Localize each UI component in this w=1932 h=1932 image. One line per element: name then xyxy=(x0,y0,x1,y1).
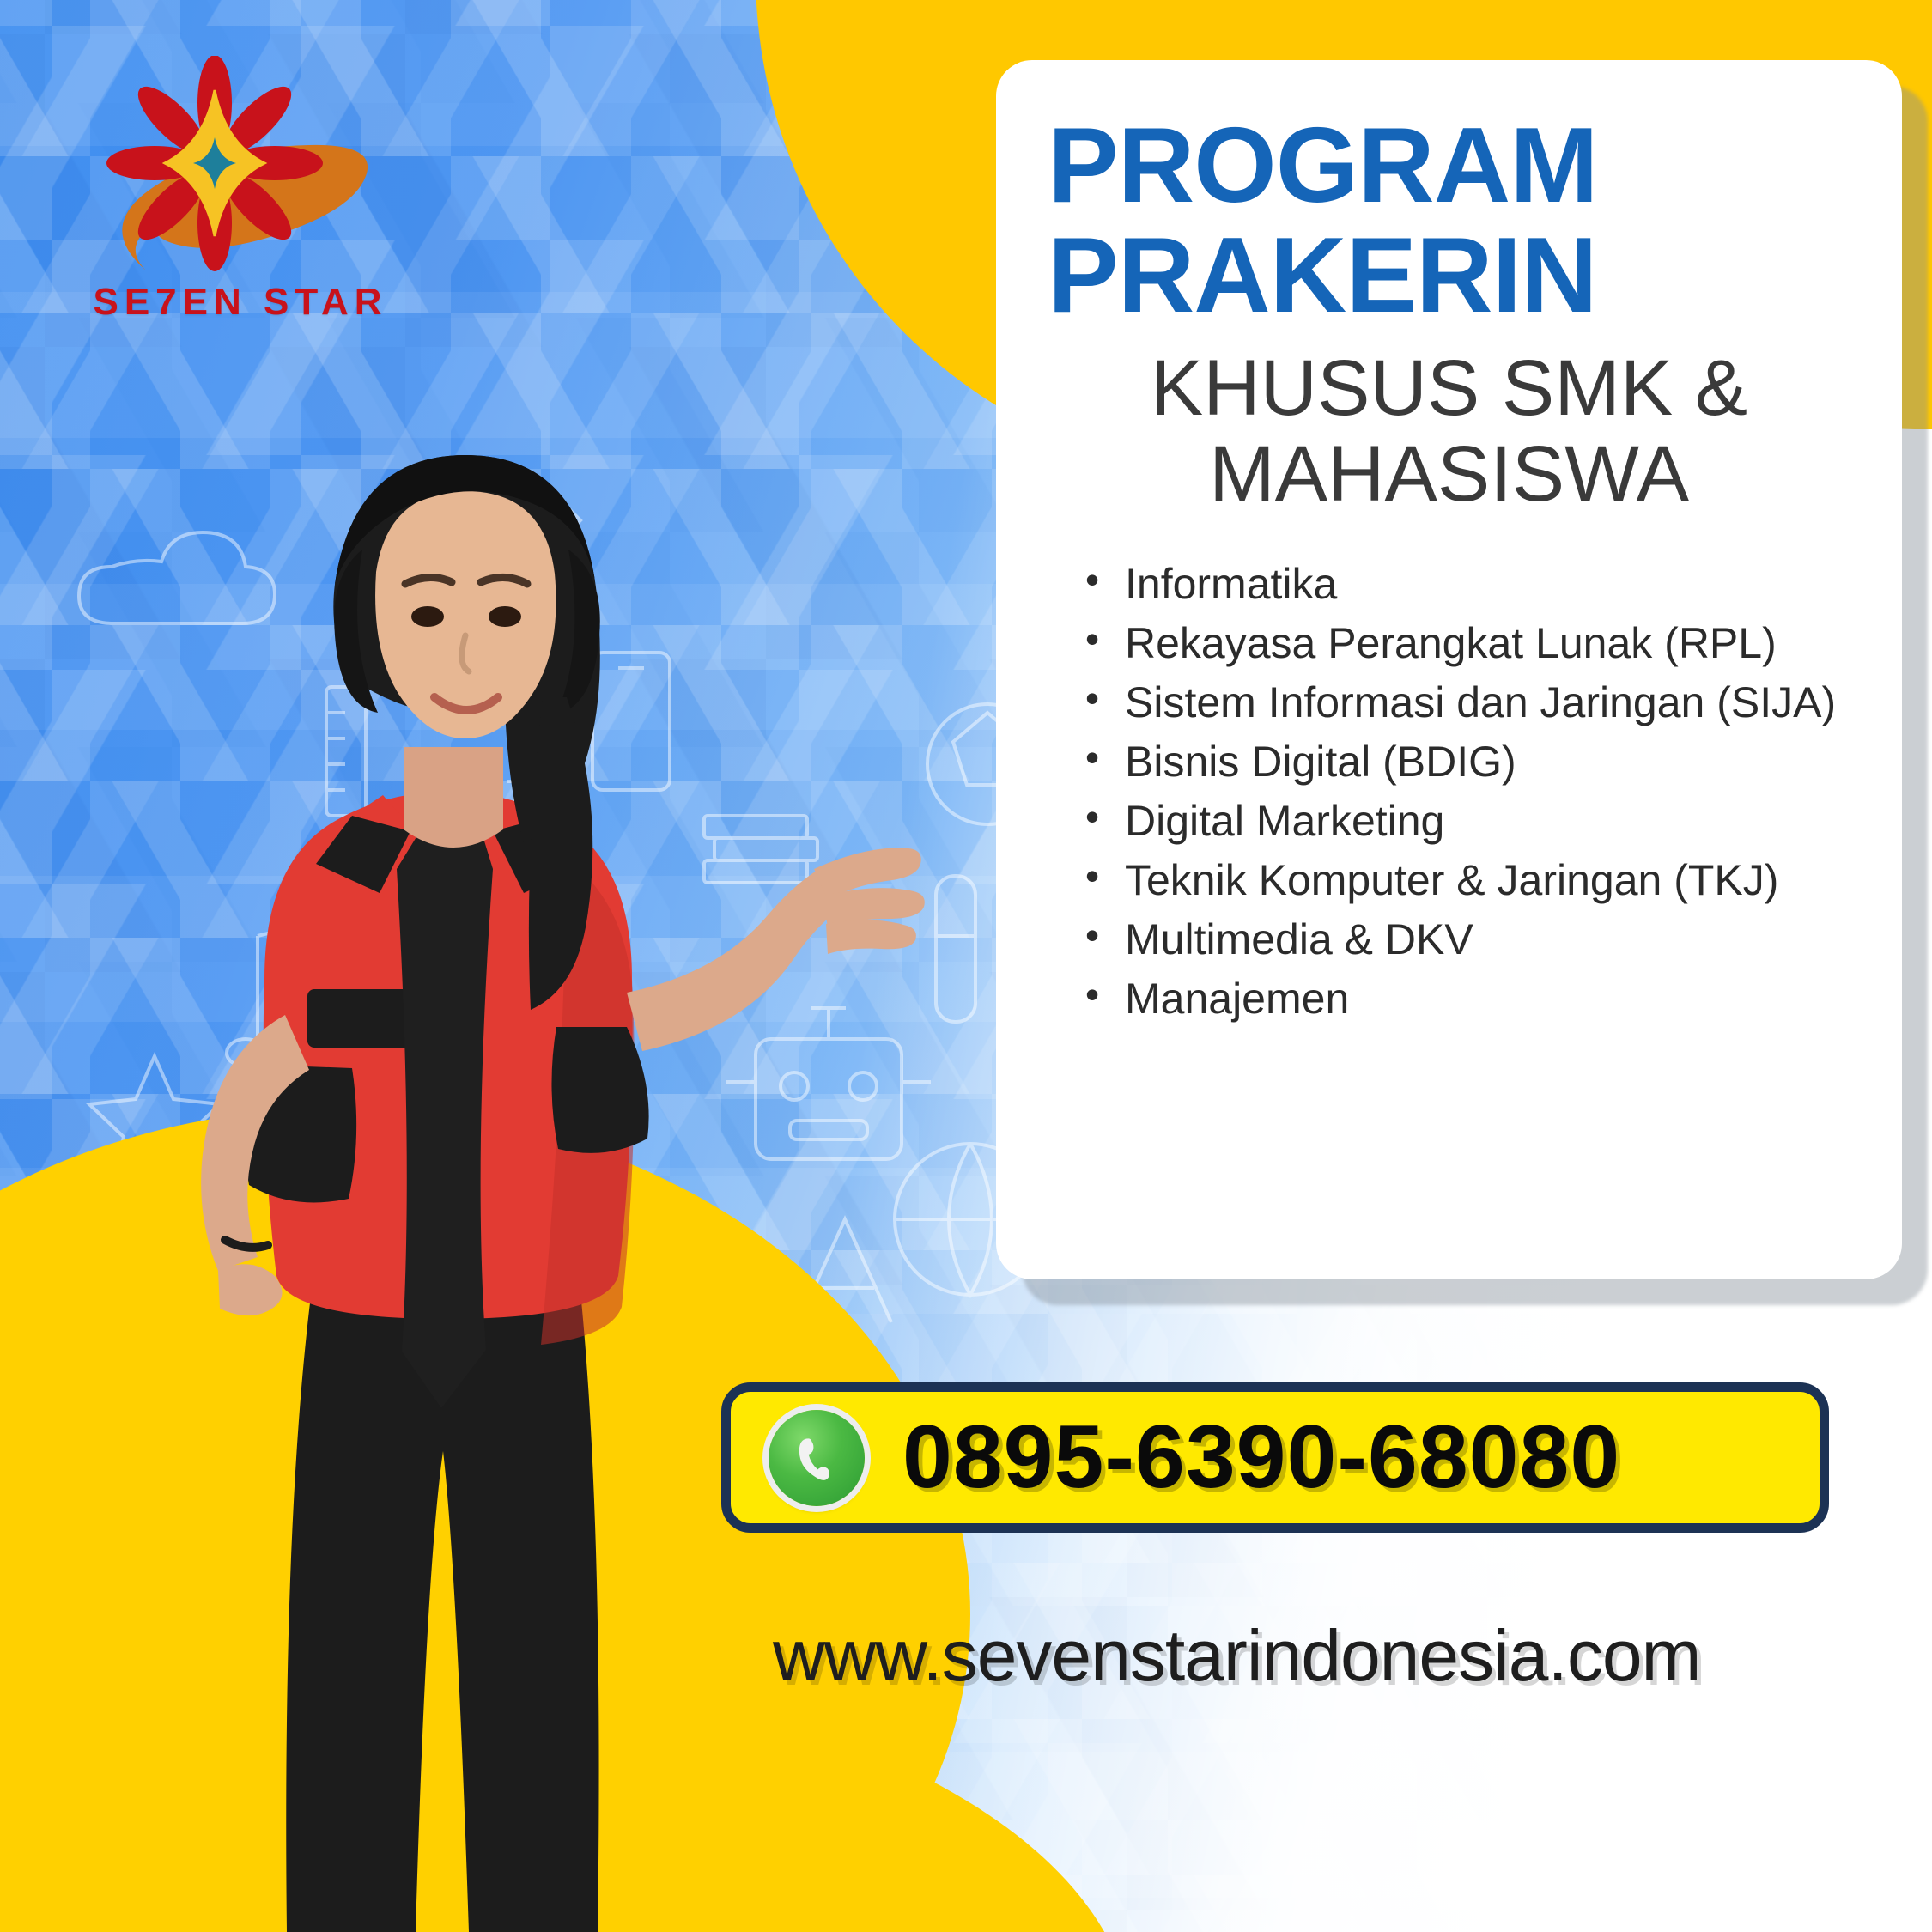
list-item: Rekayasa Perangkat Lunak (RPL) xyxy=(1080,614,1850,673)
page-subtitle: KHUSUS SMK & MAHASISWA xyxy=(1048,346,1850,517)
title-line-2: PRAKERIN xyxy=(1048,222,1850,331)
list-item: Multimedia & DKV xyxy=(1080,910,1850,969)
handset-glyph-icon xyxy=(789,1431,844,1485)
list-item: Sistem Informasi dan Jaringan (SIJA) xyxy=(1080,673,1850,732)
list-item: Informatika xyxy=(1080,555,1850,614)
title-line-1: PROGRAM xyxy=(1048,112,1850,222)
poster-canvas: SE7EN STAR xyxy=(0,0,1932,1932)
subtitle-line-1: KHUSUS SMK & xyxy=(1048,346,1850,431)
list-item: Teknik Komputer & Jaringan (TKJ) xyxy=(1080,851,1850,910)
brand-name: SE7EN STAR xyxy=(86,281,395,324)
star-flower-orbit-logo-icon xyxy=(86,56,369,288)
phone-handset-icon xyxy=(769,1410,865,1506)
brand-logo: SE7EN STAR xyxy=(86,56,395,365)
website-url[interactable]: www.sevenstarindonesia.com xyxy=(773,1614,1889,1698)
info-card: PROGRAM PRAKERIN KHUSUS SMK & MAHASISWA … xyxy=(996,60,1902,1279)
phone-number[interactable]: 0895-6390-68080 xyxy=(902,1406,1620,1509)
list-item: Manajemen xyxy=(1080,969,1850,1029)
list-item: Digital Marketing xyxy=(1080,792,1850,851)
list-item: Bisnis Digital (BDIG) xyxy=(1080,732,1850,792)
presenter-photo xyxy=(34,378,979,1932)
subtitle-line-2: MAHASISWA xyxy=(1048,432,1850,517)
page-title: PROGRAM PRAKERIN xyxy=(1048,112,1850,331)
program-list: Informatika Rekayasa Perangkat Lunak (RP… xyxy=(1048,555,1850,1029)
phone-cta-bar[interactable]: 0895-6390-68080 xyxy=(721,1382,1829,1533)
